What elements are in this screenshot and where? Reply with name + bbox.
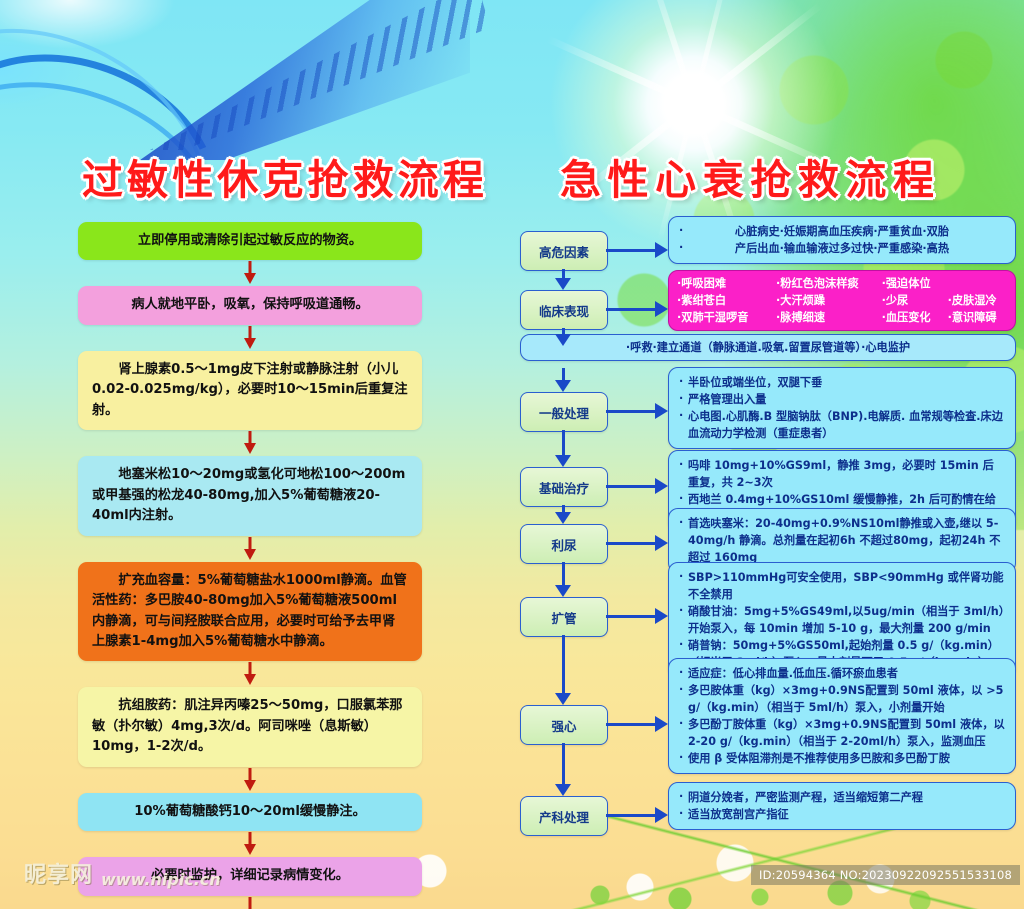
- list-item: 半卧位或端坐位，双腿下垂: [679, 374, 1005, 391]
- clinical-item: ·粉红色泡沫样痰: [776, 275, 882, 292]
- right-node-3: 一般处理: [520, 392, 608, 432]
- right-branch-line-6: [606, 615, 655, 618]
- watermark-site-name: 昵享网: [24, 857, 93, 889]
- detail-risk-factors: 心脏病史·妊娠期高血压疾病·严重贫血·双胎产后出血·输血输液过多过快·严重感染·…: [668, 216, 1016, 264]
- detail-general-management-list: 半卧位或端坐位，双腿下垂严格管理出入量心电图.心肌酶.B 型脑钠肽（BNP).电…: [679, 374, 1005, 442]
- clinical-item: ·强迫体位: [882, 275, 948, 292]
- right-arrow-right-icon-5: [655, 535, 668, 551]
- right-arrow-down-icon-6: [555, 585, 571, 597]
- left-step-box-7: 10%葡萄糖酸钙10～20ml缓慢静注。: [78, 793, 422, 831]
- detail-obstetric-management-list: 阴道分娩者，严密监测产程，适当缩短第二产程适当放宽剖宫产指征: [679, 789, 1005, 823]
- right-arrow-right-icon-7: [655, 716, 668, 732]
- list-item: 多巴胺体重（kg）×3mg+0.9NS配置到 50ml 液体，以 >5 g/（k…: [679, 682, 1005, 716]
- right-node-6: 扩管: [520, 597, 608, 637]
- left-step-text: 地塞米松10～20mg或氢化可地松100～200m或甲基强的松龙40-80mg,…: [92, 467, 405, 523]
- clinical-item: ·双肺干湿啰音: [677, 309, 776, 326]
- left-step-box-5: 扩充血容量：5%葡萄糖盐水1000ml静滴。血管活性药：多巴胺40-80mg加入…: [78, 562, 422, 662]
- clinical-row: ·紫绀苍白·大汗烦躁·少尿·皮肤湿冷: [677, 292, 1007, 309]
- right-arrow-right-icon-3: [655, 403, 668, 419]
- acute-heart-failure-flowchart: 高危因素临床表现一般处理基础治疗利尿扩管强心产科处理心脏病史·妊娠期高血压疾病·…: [520, 212, 1020, 852]
- right-branch-line-8: [606, 814, 655, 817]
- clinical-item: ·少尿: [882, 292, 948, 309]
- left-step-text: 肾上腺素0.5～1mg皮下注射或静脉注射（小儿0.02-0.025mg/kg），…: [92, 362, 408, 418]
- left-chart-title: 过敏性休克抢救流程: [82, 146, 488, 206]
- right-node-label: 基础治疗: [539, 478, 589, 497]
- right-node-7: 强心: [520, 705, 608, 745]
- list-item: 首选呋塞米：20-40mg+0.9%NS10ml静推或入壶,继以 5-40mg/…: [679, 515, 1005, 566]
- clinical-item: ·血压变化: [882, 309, 948, 326]
- right-node-label: 利尿: [551, 535, 576, 554]
- left-arrow-down-icon-2: [78, 325, 422, 351]
- left-arrow-down-icon-1: [78, 260, 422, 286]
- list-item: 多巴酚丁胺体重（kg）×3mg+0.9NS配置到 50ml 液体，以 2-20 …: [679, 716, 1005, 750]
- right-arrow-right-icon-1: [655, 242, 668, 258]
- list-item: 严格管理出入量: [679, 391, 1005, 408]
- right-arrow-down-icon-8: [555, 784, 571, 796]
- clinical-item: ·脉搏细速: [776, 309, 882, 326]
- right-arrow-down-icon-7: [555, 693, 571, 705]
- list-item: 阴道分娩者，严密监测产程，适当缩短第二产程: [679, 789, 1005, 806]
- right-connector-line-4: [562, 430, 565, 455]
- clinical-item: ·紫绀苍白: [677, 292, 776, 309]
- left-step-text: 扩充血容量：5%葡萄糖盐水1000ml静滴。血管活性药：多巴胺40-80mg加入…: [92, 573, 407, 649]
- clinical-item: ·呼吸困难: [677, 275, 776, 292]
- clinical-item: ·意识障碍: [948, 309, 1007, 326]
- detail-vasodilation-list: SBP>110mmHg可安全使用，SBP<90mmHg 或伴肾功能不全禁用硝酸甘…: [679, 569, 1005, 671]
- right-arrow-right-icon-4: [655, 478, 668, 494]
- detail-risk-factors-list: 心脏病史·妊娠期高血压疾病·严重贫血·双胎产后出血·输血输液过多过快·严重感染·…: [679, 223, 1005, 257]
- right-node-label: 扩管: [551, 608, 576, 627]
- right-node-8: 产科处理: [520, 796, 608, 836]
- right-connector-line-6: [562, 562, 565, 585]
- list-item: 心电图.心肌酶.B 型脑钠肽（BNP).电解质. 血常规等检查.床边血流动力学检…: [679, 408, 1005, 442]
- detail-emergency-bar: ·呼救·建立通道（静脉通道.吸氧.留置尿管道等）·心电监护: [520, 334, 1016, 361]
- clinical-row: ·双肺干湿啰音·脉搏细速·血压变化·意识障碍: [677, 309, 1007, 326]
- left-arrow-down-icon-3: [78, 430, 422, 456]
- right-connector-line-5: [562, 505, 565, 512]
- left-step-box-4: 地塞米松10～20mg或氢化可地松100～200m或甲基强的松龙40-80mg,…: [78, 456, 422, 535]
- detail-clinical-manifestations: ·呼吸困难·粉红色泡沫样痰·强迫体位·紫绀苍白·大汗烦躁·少尿·皮肤湿冷·双肺干…: [668, 270, 1016, 331]
- anaphylactic-shock-flowchart: 立即停用或清除引起过敏反应的物资。病人就地平卧，吸氧，保持呼吸道通畅。肾上腺素0…: [78, 222, 422, 909]
- right-arrow-right-icon-6: [655, 608, 668, 624]
- site-watermark: 昵享网 www.nipic.cn: [24, 857, 221, 889]
- left-step-box-6: 抗组胺药：肌注异丙嗪25～50mg，口服氯苯那敏（扑尔敏）4mg,3次/d。阿司…: [78, 687, 422, 766]
- right-arrow-down-icon-2: [555, 334, 571, 346]
- right-node-1: 高危因素: [520, 231, 608, 271]
- left-step-text: 抗组胺药：肌注异丙嗪25～50mg，口服氯苯那敏（扑尔敏）4mg,3次/d。阿司…: [92, 698, 402, 754]
- right-branch-line-1: [606, 249, 655, 252]
- watermark-url: www.nipic.cn: [101, 870, 221, 889]
- right-branch-line-5: [606, 542, 655, 545]
- left-step-box-3: 肾上腺素0.5～1mg皮下注射或静脉注射（小儿0.02-0.025mg/kg），…: [78, 351, 422, 430]
- clinical-item: ·大汗烦躁: [776, 292, 882, 309]
- left-step-text: 立即停用或清除引起过敏反应的物资。: [138, 233, 362, 248]
- left-arrow-down-icon-6: [78, 767, 422, 793]
- right-connector-line-8: [562, 743, 565, 784]
- list-item: 适当放宽剖宫产指征: [679, 806, 1005, 823]
- right-branch-line-4: [606, 485, 655, 488]
- right-branch-line-2: [606, 308, 655, 311]
- left-step-box-1: 立即停用或清除引起过敏反应的物资。: [78, 222, 422, 260]
- detail-diuresis-list: 首选呋塞米：20-40mg+0.9%NS10ml静推或入壶,继以 5-40mg/…: [679, 515, 1005, 566]
- right-node-2: 临床表现: [520, 290, 608, 330]
- right-branch-line-7: [606, 723, 655, 726]
- right-arrow-right-icon-2: [655, 301, 668, 317]
- left-arrow-down-icon-4: [78, 536, 422, 562]
- left-step-box-2: 病人就地平卧，吸氧，保持呼吸道通畅。: [78, 286, 422, 324]
- left-arrow-down-icon-7: [78, 831, 422, 857]
- right-node-label: 临床表现: [539, 301, 589, 320]
- list-item: 硝酸甘油：5mg+5%GS49ml,以5ug/min（相当于 3ml/h）开始泵…: [679, 603, 1005, 637]
- right-connector-line-1: [562, 269, 565, 278]
- detail-inotropic-support-list: 适应症：低心排血量.低血压.循环瘀血患者多巴胺体重（kg）×3mg+0.9NS配…: [679, 665, 1005, 767]
- right-arrow-down-icon-4: [555, 455, 571, 467]
- list-item: 使用 β 受体阻滞剂是不推荐使用多巴胺和多巴酚丁胺: [679, 750, 1005, 767]
- left-step-text: 10%葡萄糖酸钙10～20ml缓慢静注。: [134, 804, 366, 819]
- list-item: 心脏病史·妊娠期高血压疾病·严重贫血·双胎: [679, 223, 1005, 240]
- poster-canvas: 过敏性休克抢救流程 急性心衰抢救流程 立即停用或清除引起过敏反应的物资。病人就地…: [0, 0, 1024, 909]
- clinical-item: [948, 275, 1007, 292]
- left-arrow-down-icon-5: [78, 661, 422, 687]
- right-chart-title: 急性心衰抢救流程: [560, 146, 940, 206]
- detail-inotropic-support: 适应症：低心排血量.低血压.循环瘀血患者多巴胺体重（kg）×3mg+0.9NS配…: [668, 658, 1016, 774]
- right-node-5: 利尿: [520, 524, 608, 564]
- list-item: 产后出血·输血输液过多过快·严重感染·高热: [679, 240, 1005, 257]
- right-node-4: 基础治疗: [520, 467, 608, 507]
- right-arrow-down-icon-3: [555, 380, 571, 392]
- clinical-row: ·呼吸困难·粉红色泡沫样痰·强迫体位: [677, 275, 1007, 292]
- list-item: SBP>110mmHg可安全使用，SBP<90mmHg 或伴肾功能不全禁用: [679, 569, 1005, 603]
- right-node-label: 一般处理: [539, 403, 589, 422]
- detail-obstetric-management: 阴道分娩者，严密监测产程，适当缩短第二产程适当放宽剖宫产指征: [668, 782, 1016, 830]
- left-step-text: 病人就地平卧，吸氧，保持呼吸道通畅。: [131, 297, 368, 312]
- left-arrow-down-icon-8: [78, 896, 422, 909]
- right-node-label: 产科处理: [539, 807, 589, 826]
- image-id-badge: ID:20594364 NO:20230922092551533108: [751, 865, 1020, 885]
- list-item: 吗啡 10mg+10%GS9ml，静推 3mg，必要时 15min 后重复，共 …: [679, 457, 1005, 491]
- right-node-label: 强心: [551, 716, 576, 735]
- right-node-label: 高危因素: [539, 242, 589, 261]
- clinical-item: ·皮肤湿冷: [948, 292, 1007, 309]
- list-item: 适应症：低心排血量.低血压.循环瘀血患者: [679, 665, 1005, 682]
- right-connector-line-3: [562, 368, 565, 380]
- right-arrow-right-icon-8: [655, 807, 668, 823]
- right-branch-line-3: [606, 410, 655, 413]
- right-arrow-down-icon-1: [555, 278, 571, 290]
- right-arrow-down-icon-5: [555, 512, 571, 524]
- right-connector-line-7: [562, 635, 565, 693]
- detail-general-management: 半卧位或端坐位，双腿下垂严格管理出入量心电图.心肌酶.B 型脑钠肽（BNP).电…: [668, 367, 1016, 449]
